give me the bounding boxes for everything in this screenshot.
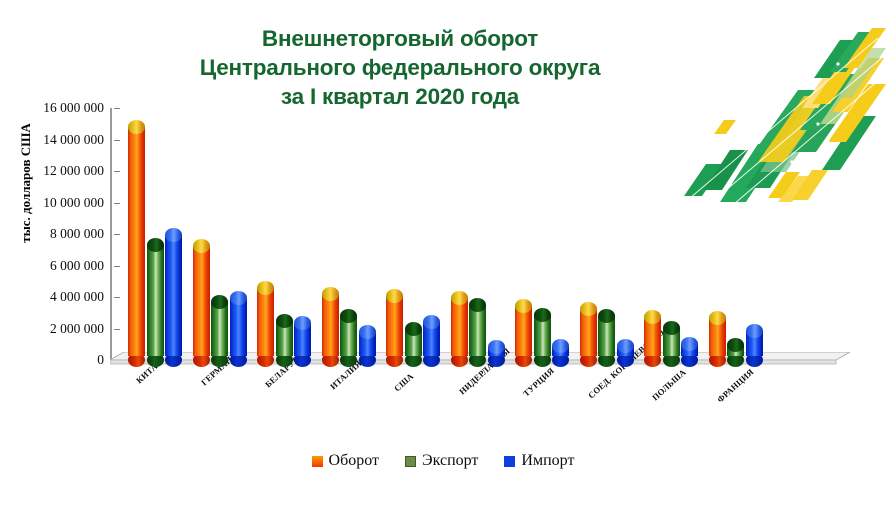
- legend-label: Импорт: [521, 452, 574, 470]
- bar-cap: [230, 291, 247, 305]
- legend-swatch-icon: [504, 456, 515, 467]
- bar-оборот-1: [193, 239, 210, 360]
- bar-оборот-3: [322, 287, 339, 360]
- bar-cap: [165, 228, 182, 242]
- bar-cap: [552, 339, 569, 353]
- bar-cap: [681, 337, 698, 351]
- bar-импорт-2: [294, 316, 311, 360]
- bar-оборот-9: [709, 311, 726, 360]
- bar-импорт-8: [681, 337, 698, 360]
- bar-body: [165, 235, 182, 356]
- bar-экспорт-5: [469, 298, 486, 360]
- bar-cap: [663, 321, 680, 335]
- bar-cap: [727, 338, 744, 352]
- bar-body: [211, 302, 228, 356]
- bar-cap: [359, 325, 376, 339]
- legend-item-import[interactable]: Импорт: [504, 452, 574, 470]
- bar-оборот-8: [644, 310, 661, 360]
- bar-body: [257, 288, 274, 356]
- bar-body: [230, 298, 247, 356]
- legend-label: Оборот: [329, 452, 379, 470]
- bar-экспорт-9: [727, 338, 744, 360]
- bar-оборот-0: [128, 120, 145, 360]
- bar-оборот-6: [515, 299, 532, 360]
- bar-cap: [147, 238, 164, 252]
- bar-импорт-0: [165, 228, 182, 360]
- bar-импорт-7: [617, 339, 634, 360]
- bar-экспорт-0: [147, 238, 164, 360]
- bar-оборот-5: [451, 291, 468, 360]
- bar-импорт-6: [552, 339, 569, 360]
- bar-экспорт-1: [211, 295, 228, 360]
- bar-cap: [276, 314, 293, 328]
- bar-body: [322, 294, 339, 356]
- bar-оборот-4: [386, 289, 403, 360]
- legend-swatch-icon: [405, 456, 416, 467]
- legend-swatch-icon: [312, 456, 323, 467]
- bar-cap: [423, 315, 440, 329]
- bar-экспорт-8: [663, 321, 680, 360]
- bar-импорт-5: [488, 340, 505, 360]
- bar-body: [469, 305, 486, 356]
- bar-body: [515, 306, 532, 356]
- bar-cap: [534, 308, 551, 322]
- chart-root: Внешнеторговый оборот Центрального федер…: [0, 0, 886, 516]
- chart-legend: ОборотЭкспортИмпорт: [0, 452, 886, 470]
- bar-оборот-7: [580, 302, 597, 360]
- bar-cap: [709, 311, 726, 325]
- bar-импорт-4: [423, 315, 440, 360]
- bar-cap: [469, 298, 486, 312]
- bar-body: [451, 298, 468, 356]
- bar-cap: [386, 289, 403, 303]
- bar-экспорт-2: [276, 314, 293, 360]
- bar-body: [193, 246, 210, 356]
- bar-cap: [746, 324, 763, 338]
- bar-оборот-2: [257, 281, 274, 360]
- bar-экспорт-4: [405, 322, 422, 360]
- bar-cap: [451, 291, 468, 305]
- bar-cap: [488, 340, 505, 354]
- bar-cap: [294, 316, 311, 330]
- bar-cap: [322, 287, 339, 301]
- plot-area: 02 000 0004 000 0006 000 0008 000 00010 …: [0, 0, 886, 440]
- bar-body: [128, 127, 145, 356]
- bar-импорт-3: [359, 325, 376, 360]
- bar-body: [386, 296, 403, 356]
- bar-body: [147, 245, 164, 356]
- bar-cap: [617, 339, 634, 353]
- legend-label: Экспорт: [422, 452, 478, 470]
- bar-импорт-1: [230, 291, 247, 360]
- bar-cap: [405, 322, 422, 336]
- bar-экспорт-6: [534, 308, 551, 360]
- bar-экспорт-7: [598, 309, 615, 360]
- legend-item-total[interactable]: Оборот: [312, 452, 379, 470]
- bar-cap: [193, 239, 210, 253]
- legend-item-export[interactable]: Экспорт: [405, 452, 478, 470]
- bar-экспорт-3: [340, 309, 357, 360]
- bar-cap: [580, 302, 597, 316]
- bar-body: [580, 309, 597, 356]
- bar-импорт-9: [746, 324, 763, 360]
